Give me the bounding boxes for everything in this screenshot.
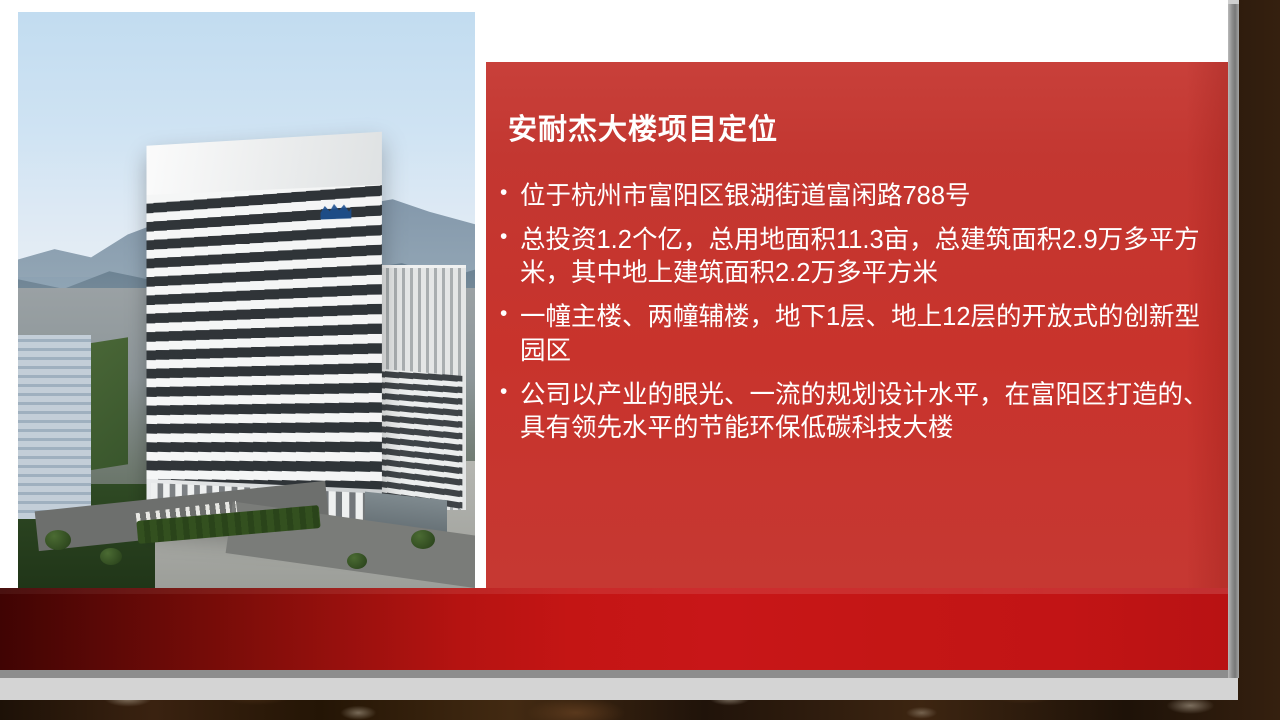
bullet-marker-icon: • — [500, 379, 520, 405]
bullet-marker-icon: • — [500, 224, 520, 250]
page-bottom-edge-light — [0, 678, 1238, 700]
photo-main-building — [147, 131, 382, 537]
page-bottom-edge-dark — [0, 670, 1238, 678]
bullet-text: 一幢主楼、两幢辅楼，地下1层、地上12层的开放式的创新型园区 — [520, 301, 1226, 367]
bullet-list: • 位于杭州市富阳区银湖街道富闲路788号 • 总投资1.2个亿，总用地面积11… — [500, 180, 1226, 456]
bullet-item: • 位于杭州市富阳区银湖街道富闲路788号 — [500, 180, 1226, 213]
desktop-background: 安耐杰大楼项目定位 • 位于杭州市富阳区银湖街道富闲路788号 • 总投资1.2… — [0, 0, 1280, 720]
bottom-decorative-band — [0, 588, 1238, 670]
bullet-item: • 公司以产业的眼光、一流的规划设计水平，在富阳区打造的、具有领先水平的节能环保… — [500, 379, 1226, 445]
bullet-marker-icon: • — [500, 301, 520, 327]
bullet-text: 公司以产业的眼光、一流的规划设计水平，在富阳区打造的、具有领先水平的节能环保低碳… — [520, 379, 1226, 445]
content-panel: 安耐杰大楼项目定位 • 位于杭州市富阳区银湖街道富闲路788号 • 总投资1.2… — [486, 62, 1238, 588]
photo-building-facade-bands — [147, 184, 382, 501]
bullet-text: 位于杭州市富阳区银湖街道富闲路788号 — [520, 180, 1226, 213]
bottom-band-highlight — [0, 588, 1238, 594]
bullet-item: • 一幢主楼、两幢辅楼，地下1层、地上12层的开放式的创新型园区 — [500, 301, 1226, 367]
bullet-item: • 总投资1.2个亿，总用地面积11.3亩，总建筑面积2.9万多平方米，其中地上… — [500, 224, 1226, 290]
bullet-text: 总投资1.2个亿，总用地面积11.3亩，总建筑面积2.9万多平方米，其中地上建筑… — [520, 224, 1226, 290]
photo-tower-left — [18, 335, 91, 519]
photo-tree — [100, 548, 122, 565]
bullet-marker-icon: • — [500, 180, 520, 206]
slide-right-edge-cap — [1228, 0, 1239, 4]
slide-title: 安耐杰大楼项目定位 — [508, 106, 778, 148]
building-photo — [18, 12, 475, 588]
presentation-slide: 安耐杰大楼项目定位 • 位于杭州市富阳区银湖街道富闲路788号 • 总投资1.2… — [0, 0, 1238, 700]
slide-right-edge-bar — [1228, 0, 1239, 678]
